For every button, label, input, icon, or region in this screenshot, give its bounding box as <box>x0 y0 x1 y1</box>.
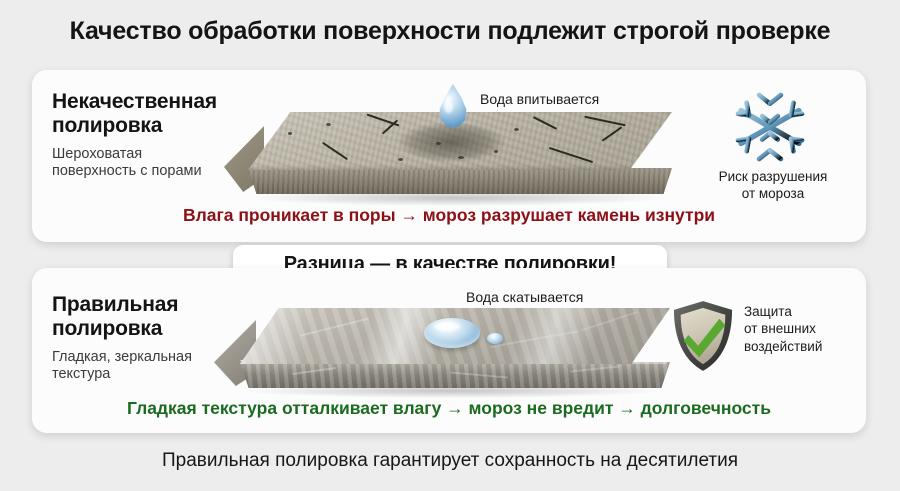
pore <box>288 132 292 135</box>
marble-vein <box>491 330 580 348</box>
snowflake-icon <box>731 88 809 166</box>
pore <box>494 150 498 153</box>
slab-front-face <box>248 168 672 194</box>
frost-risk-caption: Риск разрушения от мороза <box>693 168 853 203</box>
page-title: Качество обработки поверхности подлежит … <box>0 17 900 46</box>
water-droplet-bead-icon <box>424 318 480 348</box>
pore <box>436 142 441 145</box>
pore <box>458 156 464 159</box>
marble-vein <box>292 367 336 375</box>
crack <box>584 116 625 127</box>
marble-vein <box>301 318 369 337</box>
water-droplet-satellite-icon <box>487 333 503 344</box>
good-water-label: Вода скатывается <box>466 289 583 305</box>
bad-result-text: Влага проникает в поры → мороз разрушает… <box>32 205 866 226</box>
infographic-canvas: Качество обработки поверхности подлежит … <box>0 0 900 491</box>
protection-caption: Защита от внешних воздействий <box>744 303 864 355</box>
crack <box>533 116 557 130</box>
marble-vein <box>450 371 508 378</box>
good-result-text: Гладкая текстура отталкивает влагу → мор… <box>32 398 866 419</box>
pore <box>514 128 519 131</box>
marble-vein <box>570 365 620 372</box>
pore <box>398 158 403 161</box>
slab-front-face <box>240 362 670 388</box>
shield-check-icon <box>672 300 734 372</box>
crack <box>602 126 623 141</box>
bad-water-label: Вода впитывается <box>480 91 599 107</box>
pore <box>326 123 331 126</box>
marble-vein <box>581 311 639 331</box>
crack <box>549 147 593 163</box>
footer-caption: Правильная полировка гарантирует сохранн… <box>0 450 900 472</box>
crack <box>322 142 348 160</box>
